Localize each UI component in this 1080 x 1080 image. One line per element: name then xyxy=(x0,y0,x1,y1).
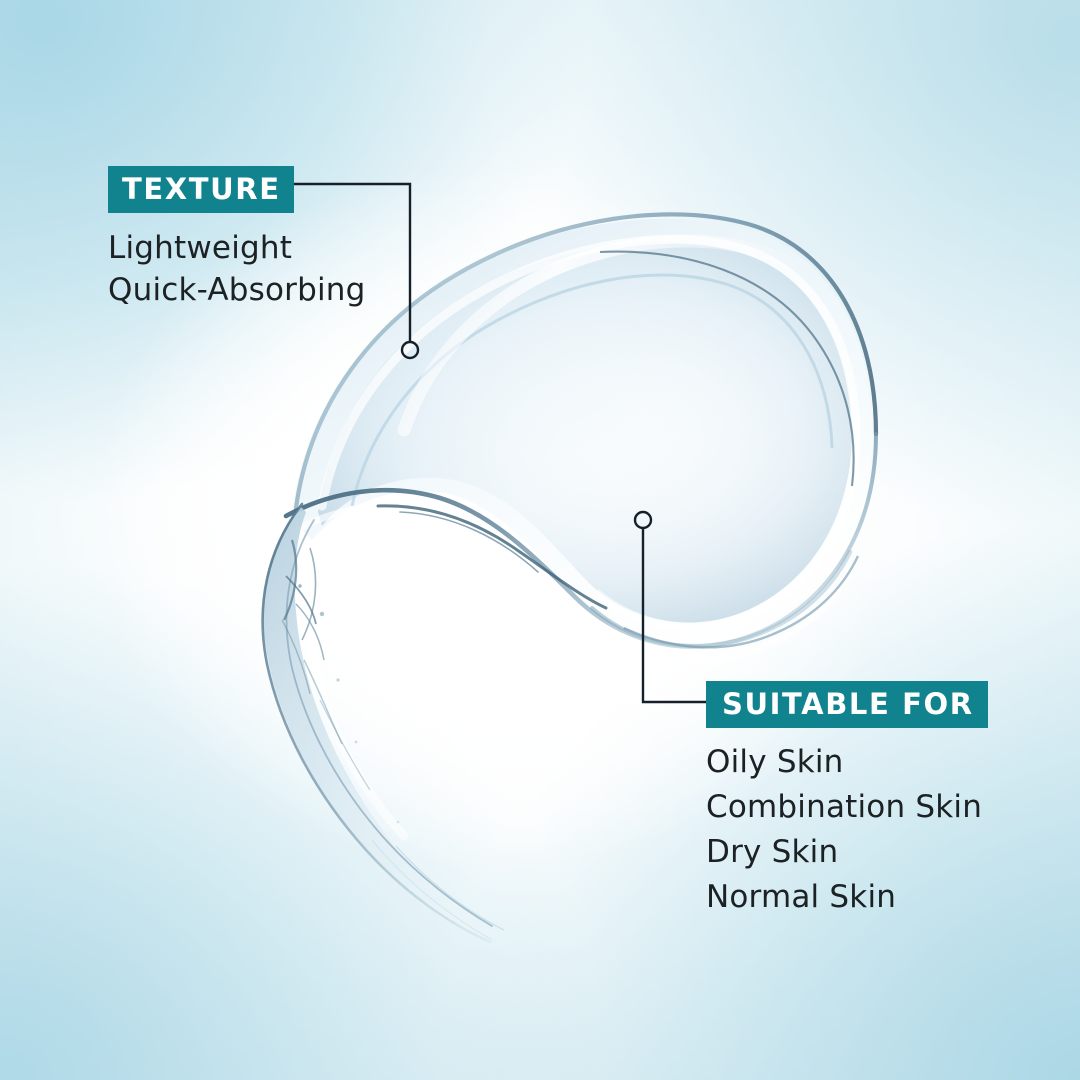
skin-type-item: Dry Skin xyxy=(706,830,988,875)
water-droplet-2 xyxy=(298,584,301,587)
texture-feature-item: Quick-Absorbing xyxy=(108,269,366,311)
water-droplet-1 xyxy=(320,612,324,616)
texture-callout: TEXTURE Lightweight Quick-Absorbing xyxy=(108,166,366,311)
skin-type-item: Combination Skin xyxy=(706,785,988,830)
suitable-for-callout: SUITABLE FOR Oily Skin Combination Skin … xyxy=(706,681,988,920)
texture-badge-label: TEXTURE xyxy=(108,166,294,213)
water-droplet-3 xyxy=(336,678,339,681)
water-droplet-5 xyxy=(397,821,400,824)
texture-feature-list: Lightweight Quick-Absorbing xyxy=(108,227,366,311)
water-droplet-4 xyxy=(355,741,358,744)
suitable-for-skin-type-list: Oily Skin Combination Skin Dry Skin Norm… xyxy=(706,740,988,920)
texture-feature-item: Lightweight xyxy=(108,227,366,269)
skin-type-item: Normal Skin xyxy=(706,875,988,920)
suitable-for-badge-label: SUITABLE FOR xyxy=(706,681,988,728)
skin-type-item: Oily Skin xyxy=(706,740,988,785)
product-feature-graphic: TEXTURE Lightweight Quick-Absorbing SUIT… xyxy=(0,0,1080,1080)
